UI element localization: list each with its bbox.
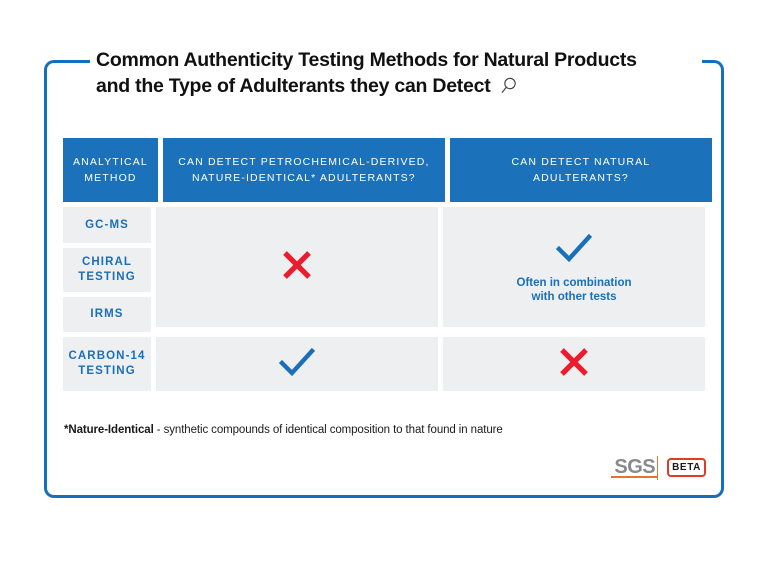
beta-logo: BETA <box>667 458 706 477</box>
title-line-1: Common Authenticity Testing Methods for … <box>96 47 696 73</box>
sgs-logo-underline <box>611 476 657 478</box>
method-label-carbon14-line2: TESTING <box>69 364 146 379</box>
result-note-line2: with other tests <box>517 290 632 304</box>
frame-edge-left <box>44 74 47 484</box>
result-cell-group-b-natural <box>443 337 705 391</box>
sgs-logo: SGS <box>611 458 658 477</box>
frame-corner-bottom-right <box>707 481 724 498</box>
page-title: Common Authenticity Testing Methods for … <box>90 47 702 99</box>
table-body-group-a: GC-MS CHIRAL TESTING IRMS <box>63 207 705 332</box>
column-header-analytical-method: ANALYTICAL METHOD <box>63 138 158 202</box>
method-cell-chiral-testing: CHIRAL TESTING <box>63 248 151 292</box>
title-line-2-row: and the Type of Adulterants they can Det… <box>96 73 696 99</box>
title-line-2: and the Type of Adulterants they can Det… <box>96 73 490 99</box>
result-cell-group-a-petrochemical <box>156 207 438 327</box>
sgs-logo-tick <box>657 456 659 480</box>
result-note-group-a-natural: Often in combination with other tests <box>517 276 632 304</box>
logo-group: SGS BETA <box>611 458 706 477</box>
beta-logo-text: BETA <box>672 462 701 473</box>
header-col2-line1: CAN DETECT PETROCHEMICAL-DERIVED, <box>178 154 429 170</box>
column-header-petrochemical: CAN DETECT PETROCHEMICAL-DERIVED, NATURE… <box>163 138 445 202</box>
method-label-chiral-line1: CHIRAL <box>78 255 136 270</box>
method-cell-carbon-14-testing: CARBON-14 TESTING <box>63 337 151 391</box>
frame-edge-bottom <box>58 495 710 498</box>
cross-icon <box>279 247 315 288</box>
footnote: *Nature-Identical - synthetic compounds … <box>64 424 503 436</box>
result-cell-group-a-natural: Often in combination with other tests <box>443 207 705 327</box>
column-header-natural: CAN DETECT NATURAL ADULTERANTS? <box>450 138 712 202</box>
check-icon <box>277 345 317 384</box>
frame-corner-bottom-left <box>44 481 61 498</box>
header-col2-line2: NATURE-IDENTICAL* ADULTERANTS? <box>178 170 429 186</box>
method-label-irms: IRMS <box>90 307 123 322</box>
frame-corner-top-left <box>44 60 61 77</box>
frame-corner-top-right <box>707 60 724 77</box>
header-col1-line1: ANALYTICAL <box>73 154 148 170</box>
method-cell-gc-ms: GC-MS <box>63 207 151 243</box>
method-label-gc-ms: GC-MS <box>85 218 129 233</box>
frame-edge-right <box>721 74 724 484</box>
sgs-logo-text: SGS <box>611 458 658 477</box>
header-col3-line1: CAN DETECT NATURAL <box>512 154 651 170</box>
footnote-term: *Nature-Identical <box>64 424 154 436</box>
result-cell-group-b-petrochemical <box>156 337 438 391</box>
cross-icon <box>556 344 592 385</box>
comparison-table: ANALYTICAL METHOD CAN DETECT PETROCHEMIC… <box>63 138 705 396</box>
footnote-text: - synthetic compounds of identical compo… <box>154 424 503 436</box>
method-cell-irms: IRMS <box>63 297 151 332</box>
check-icon <box>554 231 594 270</box>
header-col1-line2: METHOD <box>73 170 148 186</box>
method-label-chiral-line2: TESTING <box>78 270 136 285</box>
table-body-group-b: CARBON-14 TESTING <box>63 337 705 391</box>
method-cell-stack: GC-MS CHIRAL TESTING IRMS <box>63 207 151 332</box>
method-label-carbon14-line1: CARBON-14 <box>69 349 146 364</box>
header-col3-line2: ADULTERANTS? <box>512 170 651 186</box>
magnifier-icon <box>498 76 518 96</box>
result-note-line1: Often in combination <box>517 276 632 290</box>
infographic-card: Common Authenticity Testing Methods for … <box>44 60 724 498</box>
table-header-row: ANALYTICAL METHOD CAN DETECT PETROCHEMIC… <box>63 138 705 202</box>
